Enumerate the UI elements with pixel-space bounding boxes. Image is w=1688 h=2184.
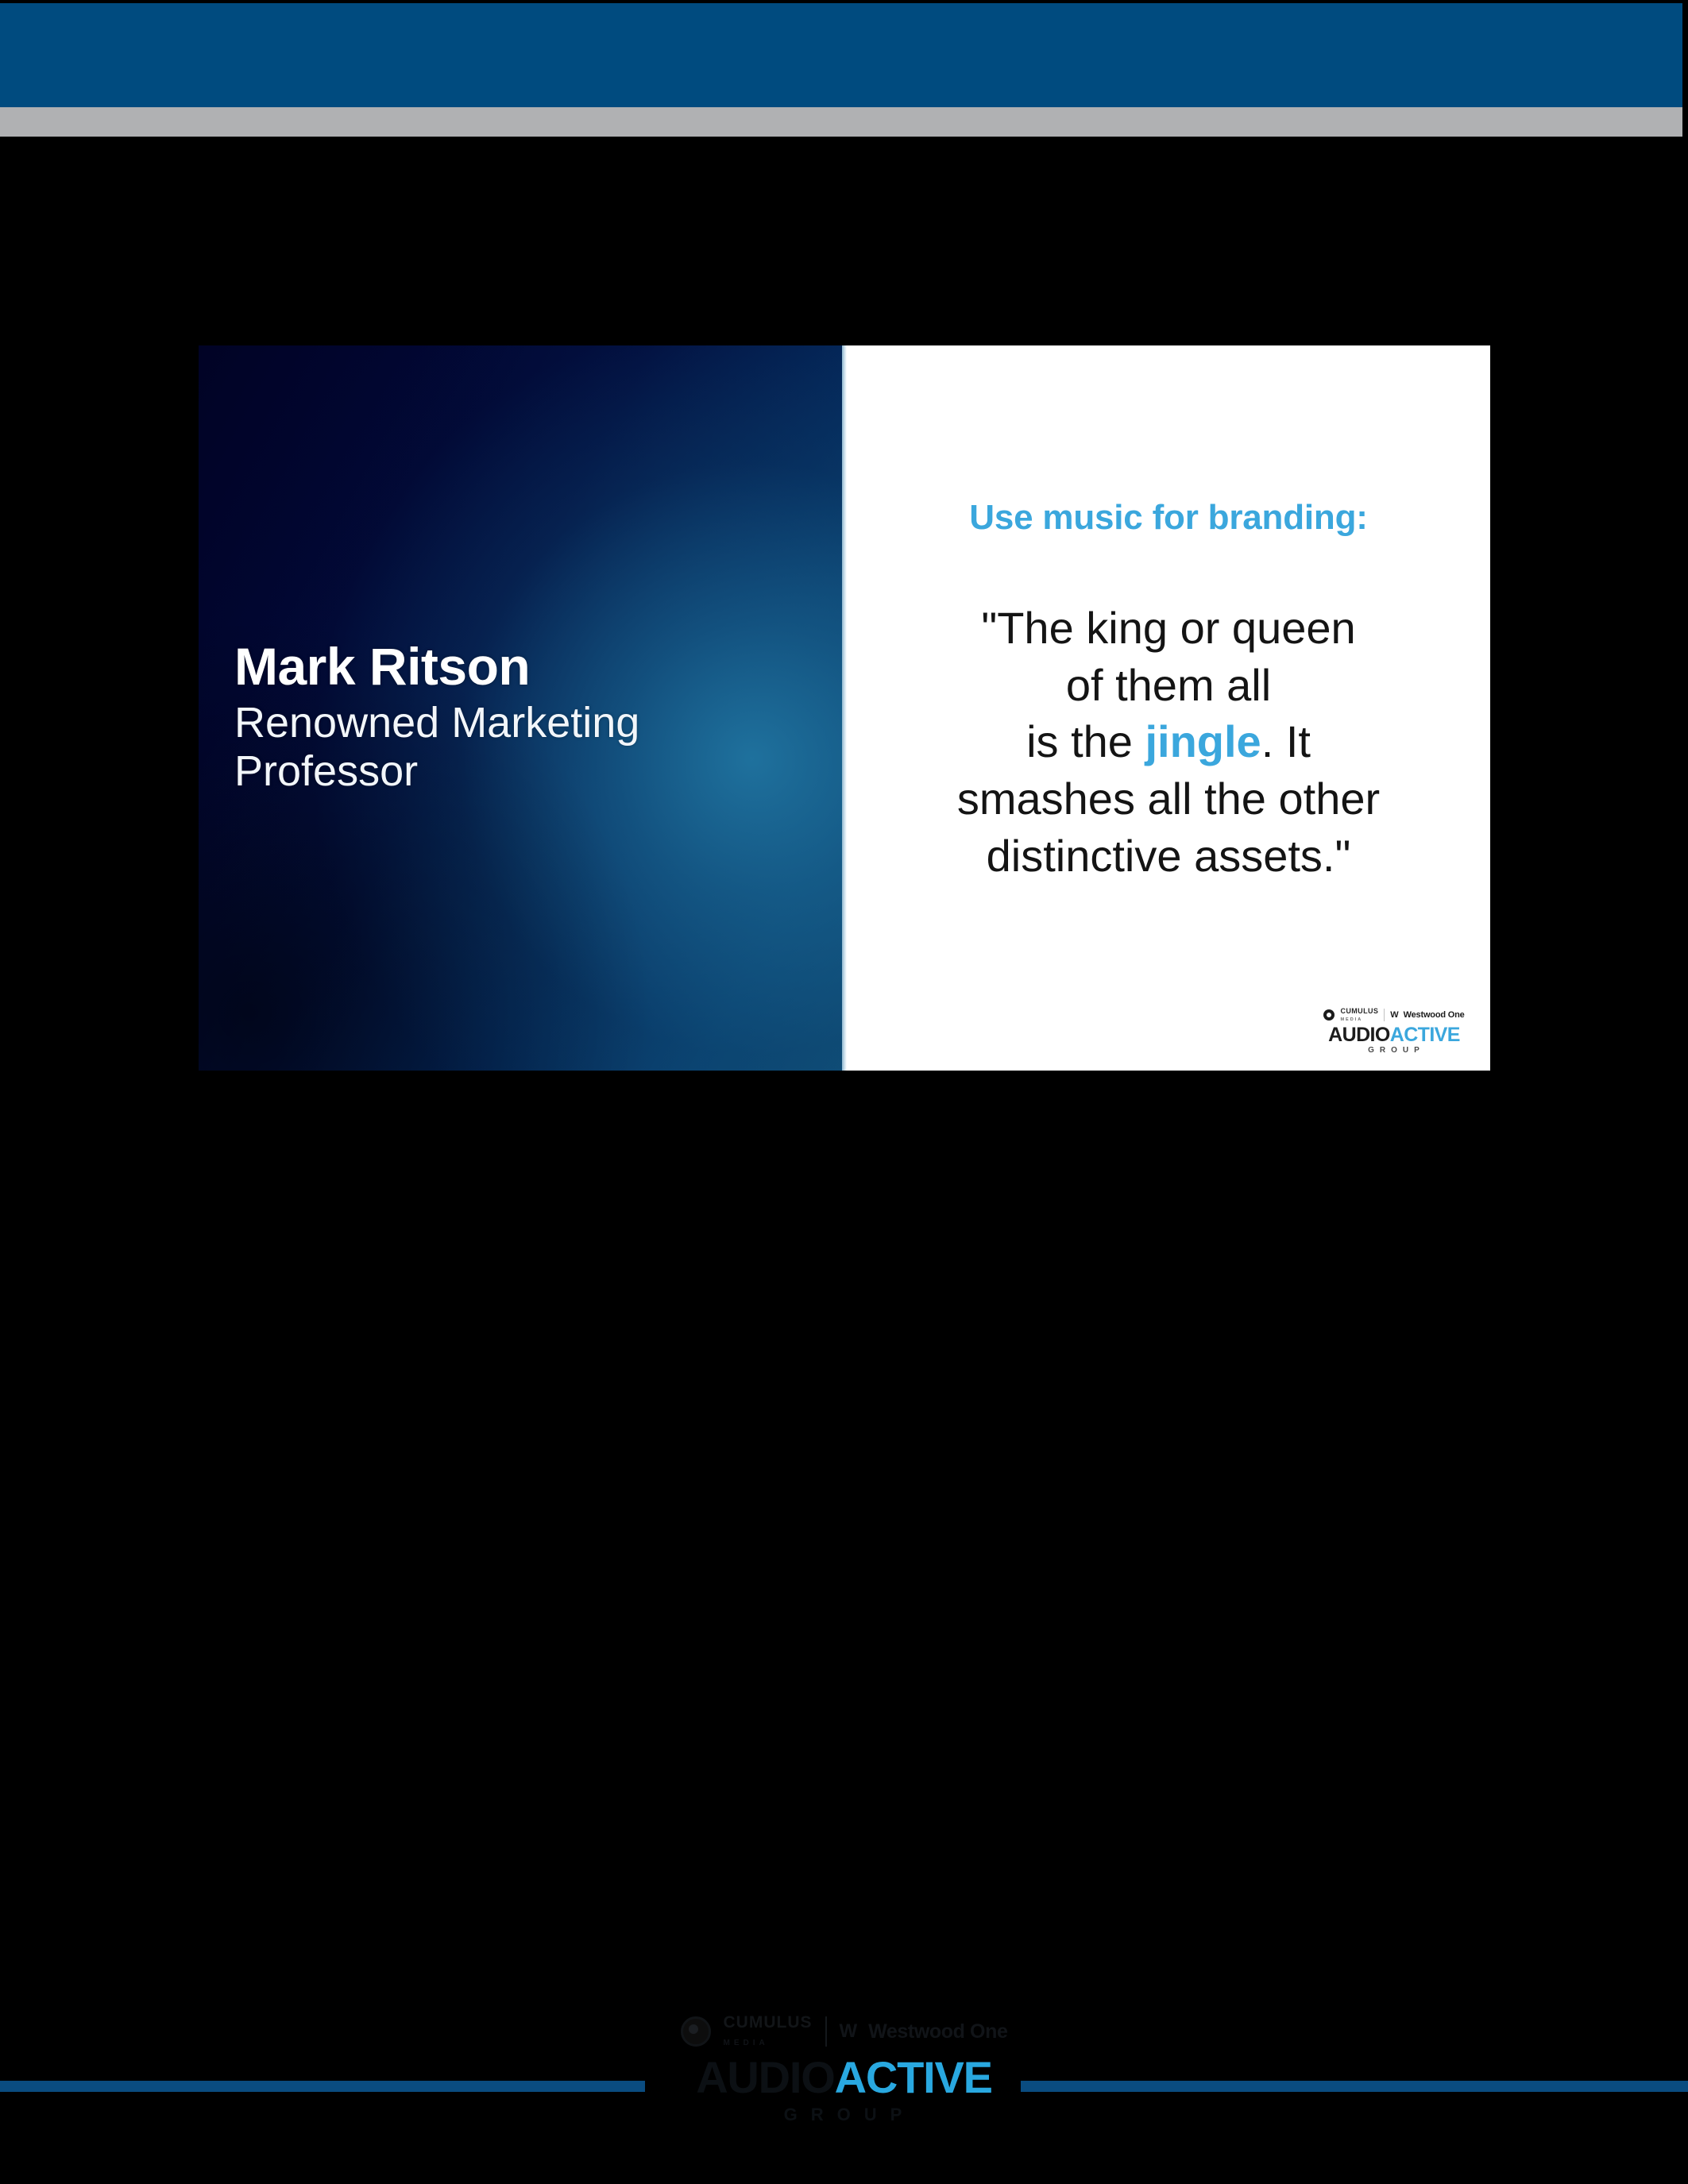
slide-logo-brand: AUDIOACTIVE [1319,1025,1470,1045]
document-page: Mark Ritson Renowned Marketing Professor… [0,0,1688,2184]
footer-cumulus-circle-icon [681,2016,711,2047]
quote-line-4: smashes all the other [866,770,1471,828]
header-banner [0,3,1682,107]
quote-line-2: of them all [866,657,1471,714]
quote-line-3-post: . It [1261,716,1311,766]
footer-cumulus-name: CUMULUS [724,2013,813,2032]
speaker-name: Mark Ritson [234,639,810,694]
slide-logo-audio: AUDIO [1328,1024,1390,1046]
westwood-w-icon: W [1390,1011,1397,1020]
cumulus-name: CUMULUS [1340,1007,1378,1015]
footer-logo-audio: AUDIO [696,2052,834,2102]
quote-line-5: distinctive assets." [866,828,1471,885]
header-gray-rule [0,107,1682,137]
page-footer: CUMULUS MEDIA W Westwood One AUDIOACTIVE… [0,2001,1688,2184]
westwood-wordmark: Westwood One [1404,1011,1465,1020]
cumulus-sub: MEDIA [1340,1017,1362,1022]
slide-right-panel: Use music for branding: "The king or que… [847,345,1490,1071]
speaker-block: Mark Ritson Renowned Marketing Professor [234,639,810,797]
footer-logo-brand: AUDIOACTIVE [678,2055,1011,2100]
footer-westwood-wordmark: Westwood One [868,2022,1007,2042]
speaker-role-line-2: Professor [234,747,810,797]
footer-westwood-w-icon: W [840,2022,856,2041]
slide-left-panel: Mark Ritson Renowned Marketing Professor [199,345,842,1071]
quote-highlight-jingle: jingle [1145,716,1261,766]
quote-line-3-pre: is the [1026,716,1145,766]
speaker-role-line-1: Renowned Marketing [234,699,810,748]
quote-line-3: is the jingle. It [866,713,1471,770]
footer-logo-group: GROUP [678,2106,1011,2124]
cumulus-circle-icon [1323,1009,1335,1021]
footer-rule-right [1021,2081,1688,2092]
quote-line-1: "The king or queen [866,600,1471,657]
slide-audioactive-logo: CUMULUS MEDIA W Westwood One AUDIOACTIVE… [1319,1008,1470,1055]
logo-separator [1384,1009,1385,1021]
slide-logo-partner-row: CUMULUS MEDIA W Westwood One [1319,1008,1470,1023]
quote-body: "The king or queen of them all is the ji… [866,600,1471,884]
quote-kicker: Use music for branding: [847,498,1490,538]
footer-logo-separator [825,2016,827,2047]
footer-rule-left [0,2081,645,2092]
slide-image: Mark Ritson Renowned Marketing Professor… [199,345,1490,1071]
footer-logo-active: ACTIVE [835,2052,992,2102]
slide-logo-active: ACTIVE [1390,1024,1460,1046]
footer-logo-partner-row: CUMULUS MEDIA W Westwood One [678,2014,1011,2049]
footer-audioactive-logo: CUMULUS MEDIA W Westwood One AUDIOACTIVE… [678,2014,1011,2124]
footer-cumulus-sub: MEDIA [724,2039,769,2047]
cumulus-wordmark: CUMULUS MEDIA [1340,1008,1378,1023]
slide-logo-group: GROUP [1319,1047,1470,1055]
footer-cumulus-wordmark: CUMULUS MEDIA [724,2014,813,2049]
